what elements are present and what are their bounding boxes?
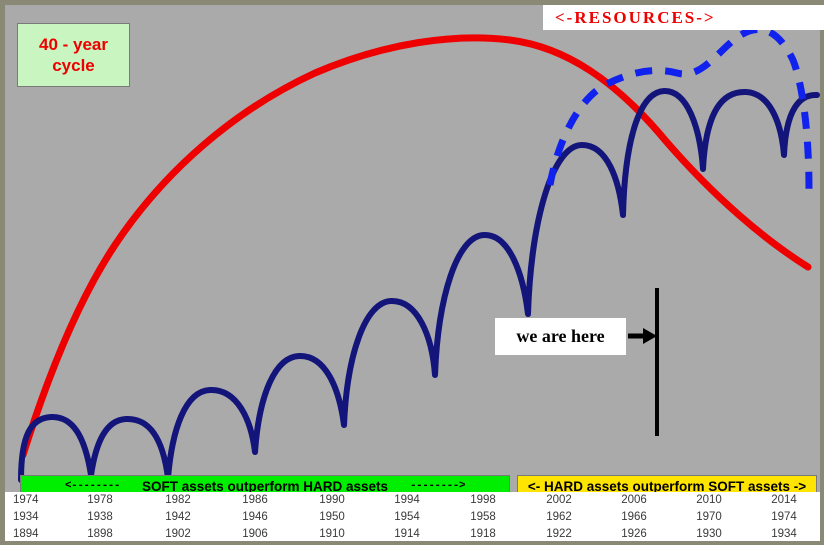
year-label: 1938 — [87, 511, 113, 523]
resources-label-box: <-RESOURCES-> — [543, 5, 824, 30]
legend-soft-right-arrow: --------> — [410, 480, 465, 492]
year-label: 1958 — [470, 511, 496, 523]
plot-area: 40 - year cycle <-RESOURCES-> we are her… — [0, 0, 824, 492]
year-label: 1910 — [319, 528, 345, 540]
year-label: 2002 — [546, 494, 572, 506]
year-label: 1998 — [470, 494, 496, 506]
main-wave-curve — [21, 91, 817, 480]
year-label: 1942 — [165, 511, 191, 523]
year-label: 1950 — [319, 511, 345, 523]
year-label: 1906 — [242, 528, 268, 540]
legend-soft-left-arrow: <-------- — [65, 480, 120, 492]
year-row-current-cycle: 1974197819821986199019941998200220062010… — [5, 492, 820, 509]
year-label: 1974 — [771, 511, 797, 523]
main-wave-curve-actual — [22, 90, 810, 475]
year-label: 2014 — [771, 494, 797, 506]
year-label: 1898 — [87, 528, 113, 540]
year-label: 1926 — [621, 528, 647, 540]
year-axis-table: 1974197819821986199019941998200220062010… — [0, 492, 824, 545]
resources-label: <-RESOURCES-> — [543, 8, 716, 28]
cycle-label-line1: 40 - year — [18, 34, 129, 55]
year-label: 1966 — [621, 511, 647, 523]
year-label: 2010 — [696, 494, 722, 506]
year-label: 1930 — [696, 528, 722, 540]
year-label: 1974 — [13, 494, 39, 506]
year-label: 1970 — [696, 511, 722, 523]
year-label: 1990 — [319, 494, 345, 506]
year-label: 1922 — [546, 528, 572, 540]
chart-page: 40 - year cycle <-RESOURCES-> we are her… — [0, 0, 824, 545]
year-label: 1902 — [165, 528, 191, 540]
year-row-previous-cycle: 1934193819421946195019541958196219661970… — [5, 509, 820, 526]
year-label: 1934 — [771, 528, 797, 540]
year-label: 1978 — [87, 494, 113, 506]
year-row-earlier-cycle: 1894189819021906191019141918192219261930… — [5, 526, 820, 543]
year-label: 1914 — [394, 528, 420, 540]
year-label: 1954 — [394, 511, 420, 523]
year-label: 1986 — [242, 494, 268, 506]
year-label: 1934 — [13, 511, 39, 523]
year-label: 1994 — [394, 494, 420, 506]
cycle-label-line2: cycle — [18, 55, 129, 76]
year-label: 1962 — [546, 511, 572, 523]
year-label: 2006 — [621, 494, 647, 506]
we-are-here-label: we are here — [516, 326, 604, 347]
year-label: 1918 — [470, 528, 496, 540]
trend-curve — [23, 38, 808, 455]
year-label: 1982 — [165, 494, 191, 506]
right-arrow-icon — [628, 328, 657, 344]
year-label: 1894 — [13, 528, 39, 540]
year-label: 1946 — [242, 511, 268, 523]
cycle-label-box: 40 - year cycle — [17, 23, 130, 87]
we-are-here-label-box: we are here — [495, 318, 626, 355]
